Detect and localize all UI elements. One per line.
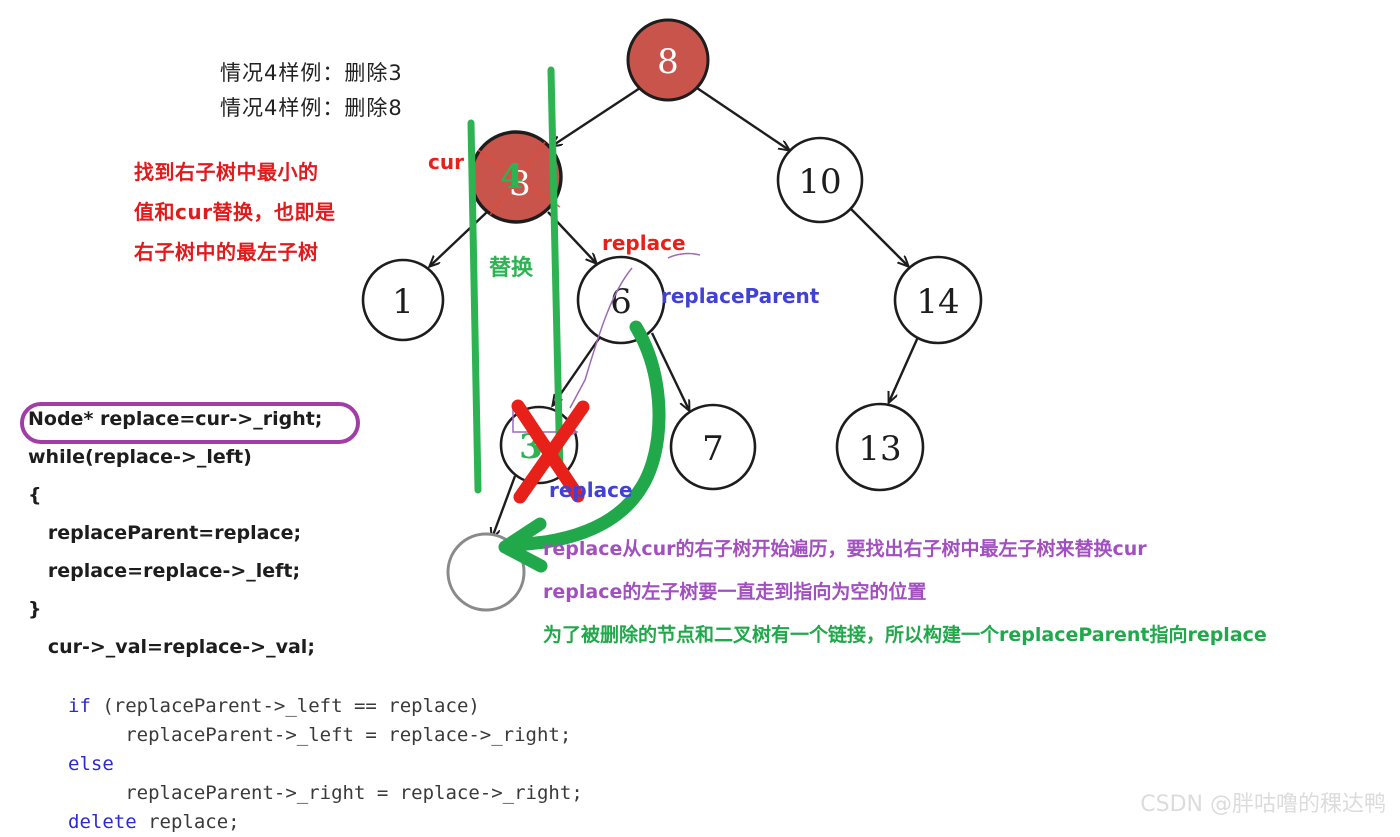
code-bottom-line-3: else [68, 750, 583, 779]
code-top-line-5: replace=replace->_left; [28, 552, 322, 590]
code-top-line-3: { [28, 476, 322, 514]
code-top-line-6: } [28, 590, 322, 628]
code-block-bottom: if (replaceParent->_left == replace) rep… [68, 692, 583, 837]
code-bottom-line-2: replaceParent->_left = replace->_right; [68, 721, 583, 750]
code-bottom-line-5-rest: replace; [137, 811, 240, 833]
annotation-line-1: replace从cur的右子树开始遍历，要找出右子树中最左子树来替换cur [543, 528, 1267, 571]
code-bottom-line-1: if (replaceParent->_left == replace) [68, 692, 583, 721]
label-cur: cur [428, 150, 464, 174]
code-bottom-line-1-rest: (replaceParent->_left == replace) [91, 695, 480, 717]
code-top-line-1: Node* replace=cur->_right; [28, 400, 322, 438]
green-line-left [471, 123, 478, 490]
label-replace-parent: replaceParent [661, 284, 819, 308]
annotation-line-2: replace的左子树要一直走到指向为空的位置 [543, 571, 1267, 614]
label-swap: 替换 [489, 250, 533, 282]
code-keyword-delete: delete [68, 811, 137, 833]
code-bottom-line-4: replaceParent->_right = replace->_right; [68, 779, 583, 808]
code-bottom-line-5: delete replace; [68, 808, 583, 837]
label-replace-bottom: replace [549, 478, 633, 502]
code-top-line-2: while(replace->_left) [28, 438, 322, 476]
green-line-right [551, 70, 560, 472]
code-keyword-else: else [68, 753, 114, 775]
annotation-line-3: 为了被删除的节点和二叉树有一个链接，所以构建一个replaceParent指向r… [543, 614, 1267, 657]
code-block-top: Node* replace=cur->_right; while(replace… [28, 400, 322, 666]
code-keyword-if: if [68, 695, 91, 717]
code-bottom-line-4-rest: replaceParent->_right = replace->_right; [68, 782, 583, 804]
whiteboard-canvas: 情况4样例：删除3 情况4样例：删除8 找到右子树中最小的 值和cur替换，也即… [0, 0, 1400, 826]
label-replace-top: replace [602, 231, 686, 255]
annotation-block: replace从cur的右子树开始遍历，要找出右子树中最左子树来替换cur re… [543, 528, 1267, 657]
code-top-line-7: cur->_val=replace->_val; [28, 628, 322, 666]
code-bottom-line-2-rest: replaceParent->_left = replace->_right; [68, 724, 571, 746]
code-top-line-4: replaceParent=replace; [28, 514, 322, 552]
watermark: CSDN @胖咕噜的稞达鸭 [1140, 786, 1386, 818]
